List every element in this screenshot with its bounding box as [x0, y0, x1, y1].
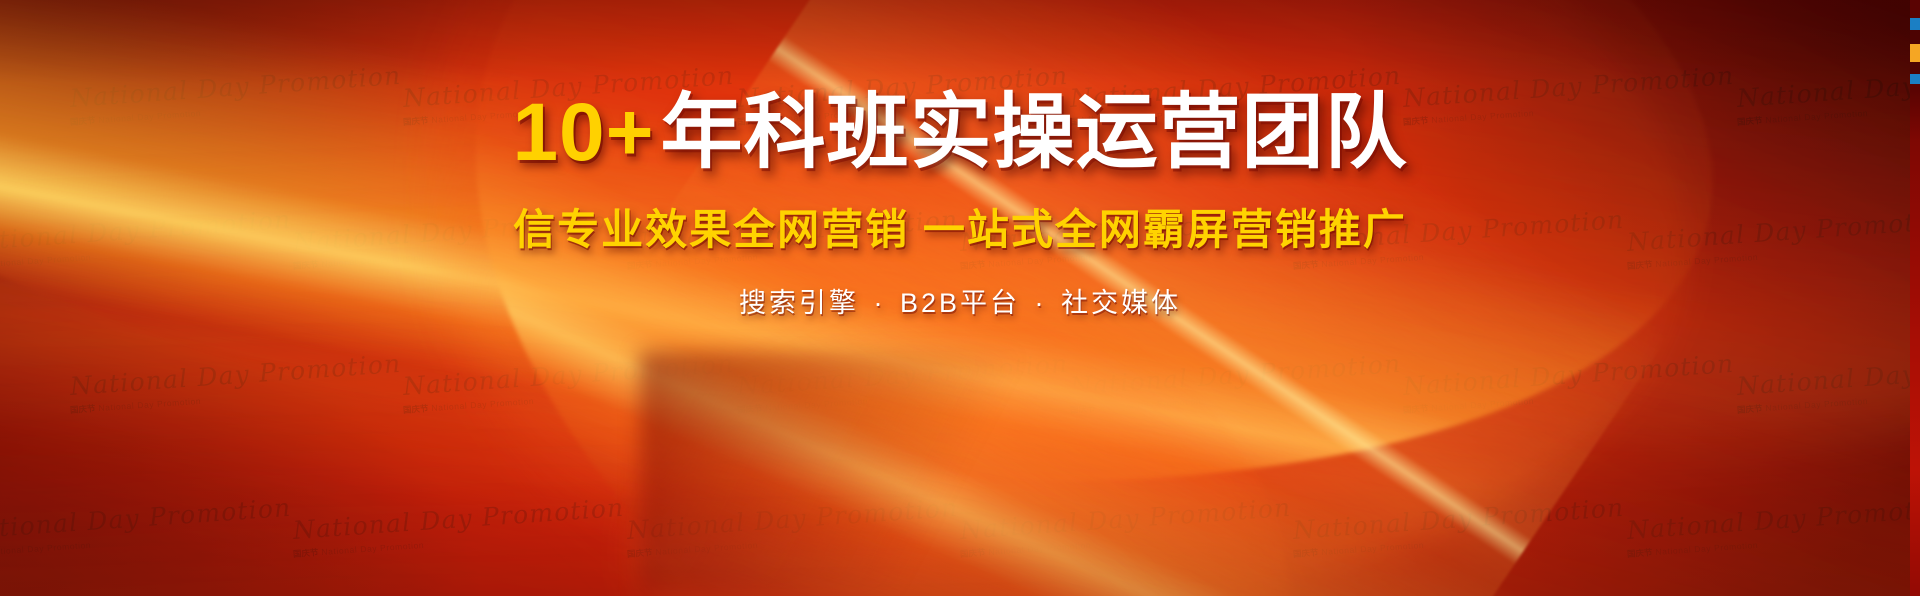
watermark-tile: National Day Promotion国庆节 National Day P… [0, 0, 293, 84]
light-ray-mid-glow [0, 96, 1306, 596]
watermark-tile: National Day Promotion国庆节 National Day P… [293, 228, 626, 372]
watermark-sub-text: 国庆节 National Day Promotion [293, 237, 626, 272]
watermark-sub-text: 国庆节 National Day Promotion [1293, 237, 1626, 272]
light-ray-filament [632, 0, 1669, 596]
tagline-separator-2: · [1031, 288, 1051, 318]
watermark-tile: National Day Promotion国庆节 National Day P… [737, 372, 1070, 516]
watermark-script-text: National Day Promotion [0, 205, 294, 257]
watermark-tile: National Day Promotion国庆节 National Day P… [1627, 0, 1920, 84]
watermark-pattern: National Day Promotion国庆节 National Day P… [0, 0, 1920, 596]
watermark-tile: National Day Promotion国庆节 National Day P… [627, 0, 960, 84]
watermark-script-text: National Day Promotion [1402, 349, 1737, 401]
light-ray-cross-glow [236, 0, 1920, 596]
watermark-tile: National Day Promotion国庆节 National Day P… [1403, 372, 1736, 516]
light-ray-top [0, 0, 1793, 596]
watermark-tile: National Day Promotion国庆节 National Day P… [1070, 84, 1403, 228]
watermark-sub-text: 国庆节 National Day Promotion [70, 381, 403, 416]
watermark-tile: National Day Promotion国庆节 National Day P… [70, 84, 403, 228]
headline-text: 年科班实操运营团队 [661, 87, 1408, 178]
watermark-script-text: National Day Promotion [1626, 205, 1920, 257]
tagline-item-social-media: 社交媒体 [1061, 288, 1181, 318]
watermark-tile: National Day Promotion国庆节 National Day P… [0, 516, 293, 596]
watermark-script-text: National Day Promotion [959, 493, 1294, 545]
watermark-tile: National Day Promotion国庆节 National Day P… [1737, 372, 1920, 516]
watermark-sub-text: 国庆节 National Day Promotion [1070, 381, 1403, 416]
watermark-tile: National Day Promotion国庆节 National Day P… [737, 84, 1070, 228]
watermark-script-text: National Day Promotion [1292, 493, 1627, 545]
light-ray-group [0, 0, 1920, 596]
watermark-sub-text: 国庆节 National Day Promotion [1070, 93, 1403, 128]
watermark-script-text: National Day Promotion [1626, 493, 1920, 545]
tagline-item-search-engine: 搜索引擎 [739, 288, 859, 318]
edge-shading [0, 0, 1920, 596]
watermark-script-text: National Day Promotion [69, 349, 404, 401]
watermark-tile: National Day Promotion国庆节 National Day P… [293, 516, 626, 596]
watermark-tile: National Day Promotion国庆节 National Day P… [1627, 516, 1920, 596]
watermark-script-text: National Day Promotion [1736, 61, 1920, 113]
watermark-tile: National Day Promotion国庆节 National Day P… [403, 372, 736, 516]
right-edge-artifact-fade [1910, 0, 1920, 596]
watermark-script-text: National Day Promotion [736, 61, 1071, 113]
watermark-script-text: National Day Promotion [1069, 61, 1404, 113]
watermark-sub-text: 国庆节 National Day Promotion [1736, 381, 1920, 416]
watermark-script-text: National Day Promotion [1292, 205, 1627, 257]
watermark-tile: National Day Promotion国庆节 National Day P… [960, 516, 1293, 596]
watermark-tile: National Day Promotion国庆节 National Day P… [960, 228, 1293, 372]
watermark-sub-text: 国庆节 National Day Promotion [736, 381, 1069, 416]
watermark-tile: National Day Promotion国庆节 National Day P… [293, 0, 626, 84]
watermark-sub-text: 国庆节 National Day Promotion [1626, 525, 1920, 560]
watermark-sub-text: 国庆节 National Day Promotion [1403, 381, 1736, 416]
watermark-sub-text: 国庆节 National Day Promotion [0, 237, 293, 272]
watermark-tile: National Day Promotion国庆节 National Day P… [1737, 84, 1920, 228]
watermark-sub-text: 国庆节 National Day Promotion [960, 237, 1293, 272]
banner-copy: 10+年科班实操运营团队 信专业效果全网营销 一站式全网霸屏营销推广 搜索引擎 … [0, 0, 1920, 320]
tagline-separator-1: · [869, 288, 889, 318]
watermark-sub-text: 国庆节 National Day Promotion [626, 525, 959, 560]
watermark-tile: National Day Promotion国庆节 National Day P… [1293, 0, 1626, 84]
watermark-sub-text: 国庆节 National Day Promotion [626, 237, 959, 272]
light-ray-bottom-left [0, 282, 1208, 596]
watermark-sub-text: 国庆节 National Day Promotion [736, 93, 1069, 128]
watermark-script-text: National Day Promotion [69, 61, 404, 113]
watermark-tile: National Day Promotion国庆节 National Day P… [1293, 228, 1626, 372]
background-vignette [0, 0, 1920, 596]
watermark-sub-text: 国庆节 National Day Promotion [0, 525, 293, 560]
watermark-sub-text: 国庆节 National Day Promotion [960, 525, 1293, 560]
watermark-script-text: National Day Promotion [959, 205, 1294, 257]
watermark-sub-text: 国庆节 National Day Promotion [1626, 237, 1920, 272]
watermark-sub-text: 国庆节 National Day Promotion [403, 93, 736, 128]
watermark-script-text: National Day Promotion [292, 205, 627, 257]
watermark-tile: National Day Promotion国庆节 National Day P… [627, 228, 960, 372]
watermark-script-text: National Day Promotion [736, 349, 1071, 401]
subheadline: 信专业效果全网营销 一站式全网霸屏营销推广 [0, 196, 1920, 257]
watermark-script-text: National Day Promotion [402, 61, 737, 113]
watermark-tile: National Day Promotion国庆节 National Day P… [1627, 228, 1920, 372]
watermark-tile: National Day Promotion国庆节 National Day P… [627, 516, 960, 596]
watermark-sub-text: 国庆节 National Day Promotion [1293, 525, 1626, 560]
watermark-sub-text: 国庆节 National Day Promotion [1403, 93, 1736, 128]
watermark-script-text: National Day Promotion [402, 349, 737, 401]
watermark-tile: National Day Promotion国庆节 National Day P… [960, 0, 1293, 84]
watermark-script-text: National Day Promotion [626, 493, 961, 545]
light-ray-bottom-right [556, 149, 1920, 596]
watermark-tile: National Day Promotion国庆节 National Day P… [1403, 84, 1736, 228]
watermark-sub-text: 国庆节 National Day Promotion [403, 381, 736, 416]
promo-banner: National Day Promotion国庆节 National Day P… [0, 0, 1920, 596]
watermark-tile: National Day Promotion国庆节 National Day P… [70, 372, 403, 516]
headline-number: 10+ [512, 87, 654, 178]
headline: 10+年科班实操运营团队 [0, 92, 1920, 174]
watermark-script-text: National Day Promotion [1402, 61, 1737, 113]
watermark-tile: National Day Promotion国庆节 National Day P… [1293, 516, 1626, 596]
watermark-script-text: National Day Promotion [1736, 349, 1920, 401]
watermark-tile: National Day Promotion国庆节 National Day P… [1070, 372, 1403, 516]
light-ray-top-glow [0, 0, 1764, 596]
watermark-sub-text: 国庆节 National Day Promotion [293, 525, 626, 560]
watermark-script-text: National Day Promotion [0, 493, 294, 545]
watermark-script-text: National Day Promotion [1069, 349, 1404, 401]
watermark-script-text: National Day Promotion [626, 205, 961, 257]
watermark-script-text: National Day Promotion [292, 493, 627, 545]
light-ray-sheen [0, 0, 1920, 574]
watermark-sub-text: 国庆节 National Day Promotion [1736, 93, 1920, 128]
tagline-item-b2b-platform: B2B平台 [900, 288, 1020, 318]
light-ray-mid [0, 85, 1307, 596]
ribbon-fold-shadow [640, 352, 1180, 592]
watermark-tile: National Day Promotion国庆节 National Day P… [403, 84, 736, 228]
watermark-sub-text: 国庆节 National Day Promotion [70, 93, 403, 128]
watermark-tile: National Day Promotion国庆节 National Day P… [0, 228, 293, 372]
light-ray-cross [287, 0, 1920, 596]
tagline: 搜索引擎 · B2B平台 · 社交媒体 [0, 281, 1920, 320]
